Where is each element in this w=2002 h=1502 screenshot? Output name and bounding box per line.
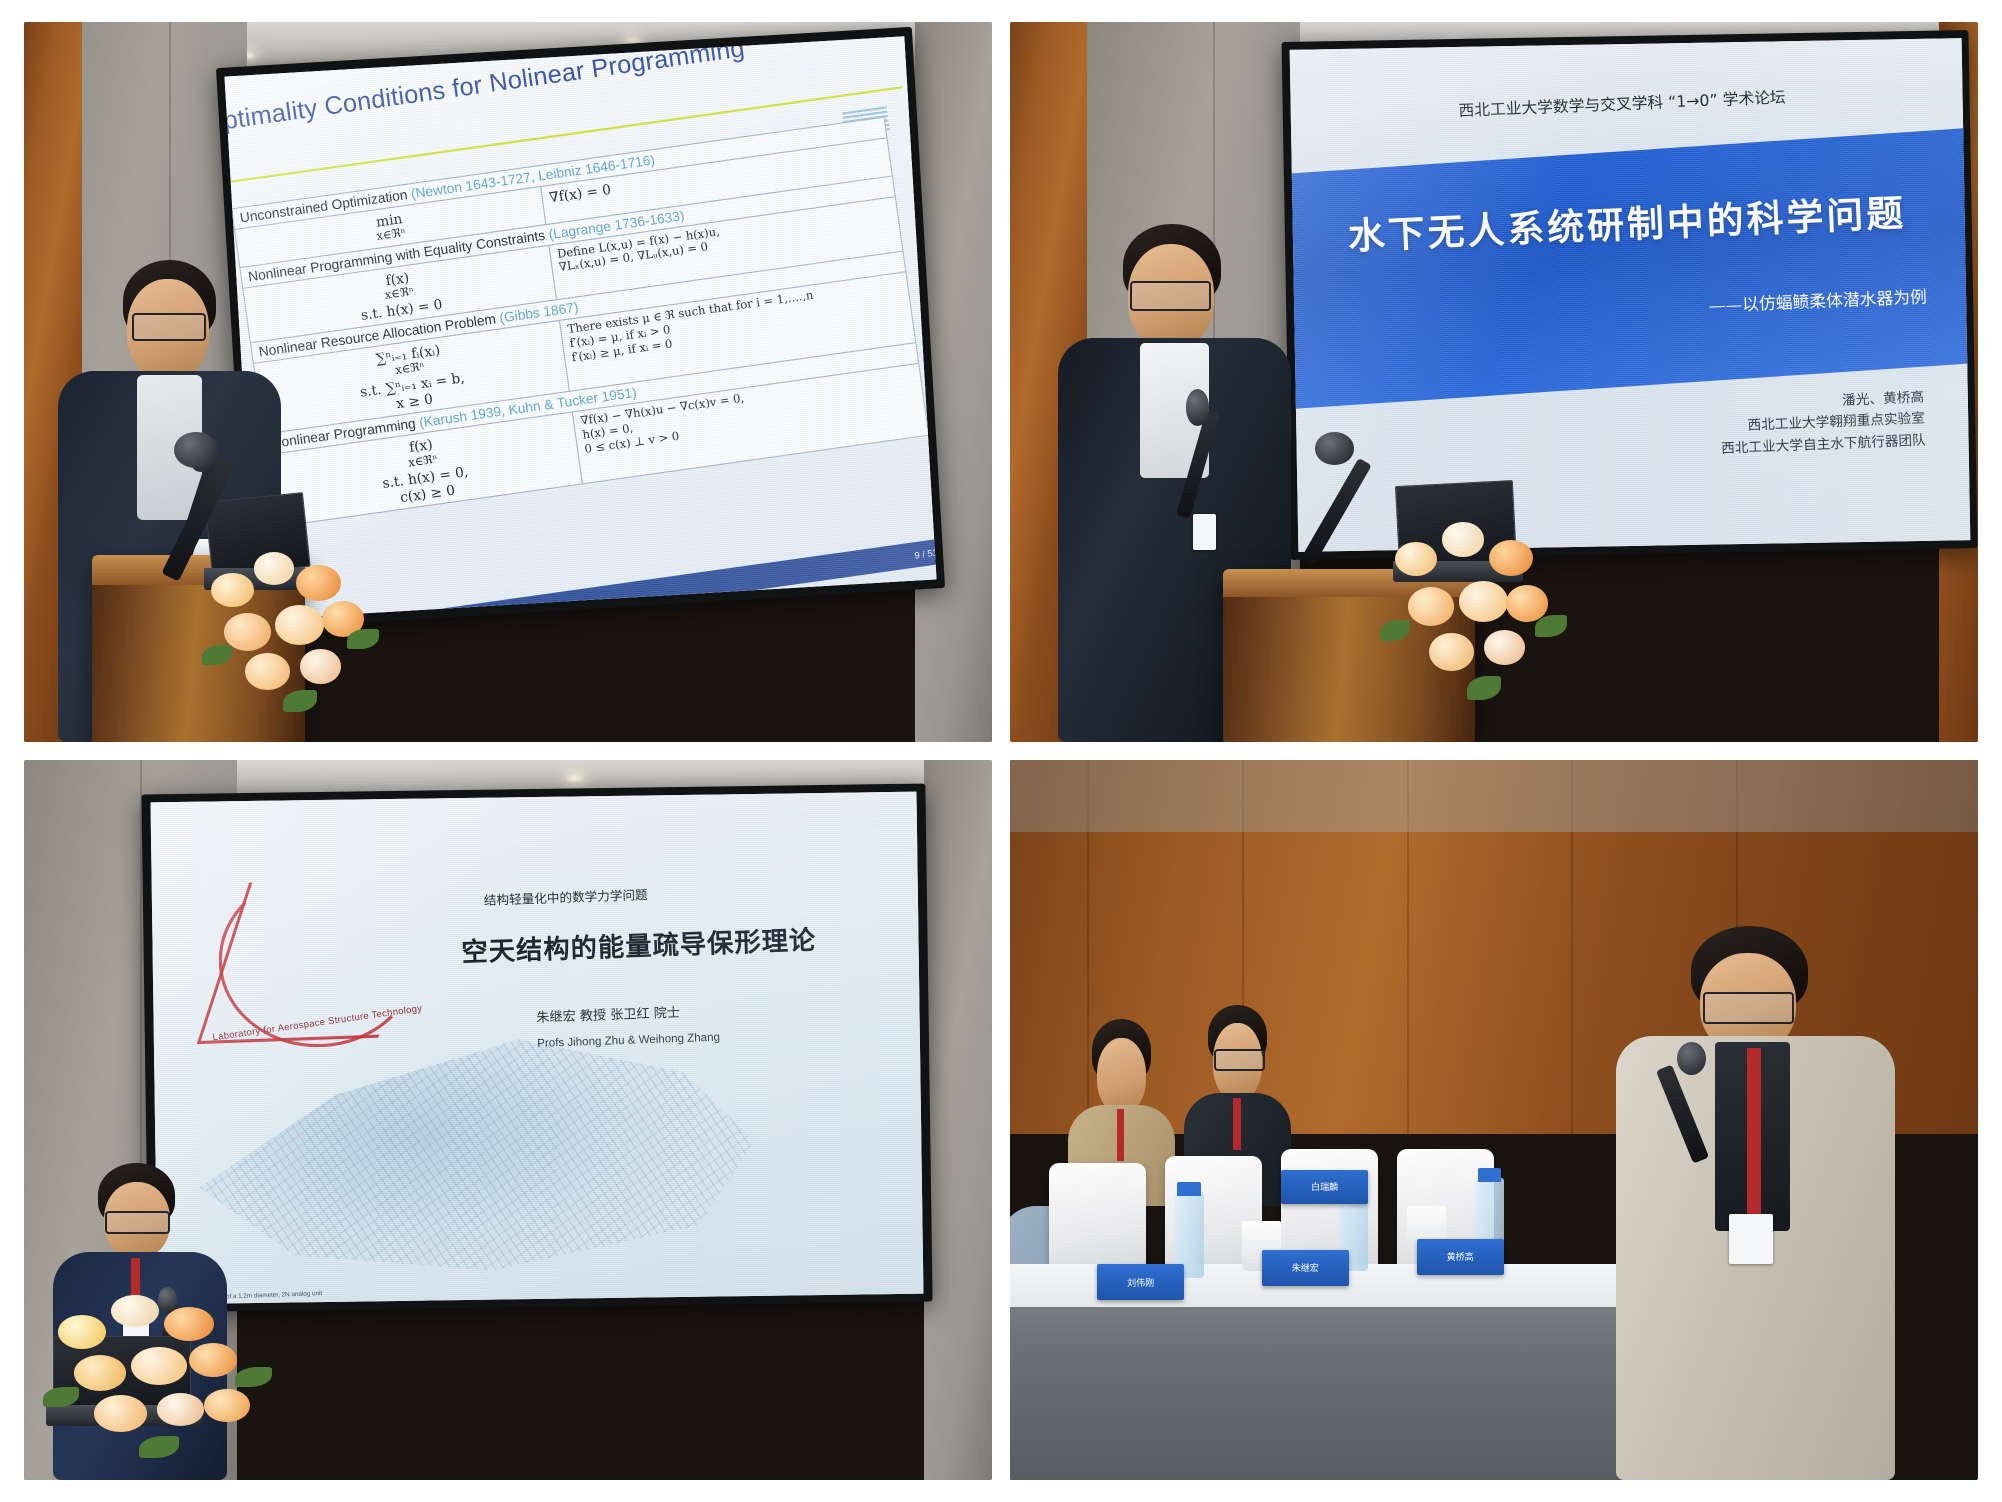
flower-bouquet <box>198 540 411 742</box>
flower <box>189 1343 237 1377</box>
projection-screen: 西北工业大学数学与交叉学科 “1→0” 学术论坛 水下无人系统研制中的科学问题 … <box>1289 39 1970 552</box>
projection-screen-frame: Laboratory for Aerospace Structure Techn… <box>141 783 932 1312</box>
slide-kicker: 结构轻量化中的数学力学问题 <box>483 886 647 910</box>
slide-title: 空天结构的能量疏导保形理论 <box>460 920 816 970</box>
projection-screen: Laboratory for Aerospace Structure Techn… <box>150 792 924 1304</box>
nameplate-label: 刘伟刚 <box>1127 1276 1154 1289</box>
authors-en: Profs Jihong Zhu & Weihong Zhang <box>537 1031 720 1050</box>
slide-optimality: Optimality Conditions for Nolinear Progr… <box>224 36 937 619</box>
flower <box>1459 581 1508 622</box>
flower <box>1429 633 1474 672</box>
lanyard <box>1233 1098 1240 1150</box>
head <box>1097 1038 1146 1113</box>
leaf <box>1380 620 1410 642</box>
badge <box>1729 1214 1773 1264</box>
flower <box>296 565 341 601</box>
authors-cn: 朱继宏 教授 张卫红 院士 <box>536 1001 680 1026</box>
leaf <box>1467 676 1501 700</box>
standing-speaker <box>1610 926 1900 1480</box>
flower <box>204 1389 249 1421</box>
microphone-head <box>1186 389 1209 425</box>
glasses <box>132 313 206 341</box>
glasses <box>1703 992 1794 1024</box>
panel-top-right: 西北工业大学数学与交叉学科 “1→0” 学术论坛 水下无人系统研制中的科学问题 … <box>1010 22 1978 742</box>
slide-aerospace: Laboratory for Aerospace Structure Techn… <box>150 792 924 1304</box>
flower <box>1395 542 1438 577</box>
lanyard <box>1747 1048 1762 1225</box>
flower-bouquet <box>43 1278 295 1480</box>
flower <box>111 1295 159 1327</box>
glasses <box>105 1211 170 1234</box>
wall-right <box>924 760 992 1480</box>
nameplate: 白瑞麟 <box>1281 1170 1368 1203</box>
flower <box>300 649 340 683</box>
wall-upper-band <box>1010 760 1978 832</box>
slide-number: 9 / 53 <box>913 547 936 561</box>
leaf <box>1535 615 1567 637</box>
leaf <box>202 645 232 665</box>
flower <box>1489 540 1534 577</box>
slide-underwater: 西北工业大学数学与交叉学科 “1→0” 学术论坛 水下无人系统研制中的科学问题 … <box>1289 39 1970 552</box>
lab-logo: Laboratory for Aerospace Structure Techn… <box>200 851 449 1070</box>
bottle-cap <box>1478 1168 1501 1182</box>
badge <box>1193 514 1216 550</box>
flower <box>74 1355 127 1391</box>
flower <box>157 1393 205 1425</box>
flower <box>1484 630 1524 665</box>
nameplate: 刘伟刚 <box>1097 1264 1184 1300</box>
flower <box>1442 522 1485 557</box>
photo-collage: Optimality Conditions for Nolinear Progr… <box>0 0 2002 1502</box>
flower <box>245 653 290 689</box>
leaf <box>235 1367 273 1387</box>
flower <box>164 1307 214 1341</box>
podium-microphone-head <box>174 432 218 468</box>
flower <box>211 573 254 607</box>
flower <box>1408 587 1455 626</box>
nameplate-label: 朱继宏 <box>1292 1261 1319 1274</box>
projection-screen-frame: Optimality Conditions for Nolinear Progr… <box>216 27 945 629</box>
bottle-cap <box>1177 1182 1200 1196</box>
lanyard <box>1117 1109 1124 1161</box>
leaf <box>139 1436 179 1458</box>
leaf <box>43 1387 78 1407</box>
microphone-head <box>1677 1042 1706 1075</box>
podium-microphone-head <box>1315 432 1354 464</box>
author-block: 潘光、黄桥高 西北工业大学翱翔重点实验室 西北工业大学自主水下航行器团队 <box>1718 389 1925 461</box>
optimality-table: Unconstrained Optimization (Newton 1643-… <box>231 116 929 527</box>
nameplate-label: 白瑞麟 <box>1311 1180 1338 1193</box>
flower <box>131 1347 186 1385</box>
forum-name: 西北工业大学数学与交叉学科 “1→0” 学术论坛 <box>1325 80 1918 127</box>
panel-top-left: Optimality Conditions for Nolinear Progr… <box>24 22 992 742</box>
flower <box>254 552 294 584</box>
glasses <box>1214 1049 1265 1071</box>
nameplate: 朱继宏 <box>1262 1250 1349 1286</box>
glasses <box>1130 281 1211 311</box>
panel-bottom-right: 刘伟刚 朱继宏 黄桥高 白瑞麟 朱华君 <box>1010 760 1978 1480</box>
flower-bouquet <box>1378 512 1591 728</box>
nameplate: 黄桥高 <box>1417 1239 1504 1275</box>
projection-screen: Optimality Conditions for Nolinear Progr… <box>224 36 937 619</box>
projection-screen-frame: 西北工业大学数学与交叉学科 “1→0” 学术论坛 水下无人系统研制中的科学问题 … <box>1281 30 1977 560</box>
flower <box>1506 585 1549 622</box>
flower <box>275 605 324 645</box>
flower <box>58 1315 106 1349</box>
nameplate-label: 黄桥高 <box>1447 1250 1474 1263</box>
panel-bottom-left: Laboratory for Aerospace Structure Techn… <box>24 760 992 1480</box>
title-band <box>1289 128 1970 410</box>
leaf <box>283 690 317 712</box>
leaf <box>347 629 379 649</box>
flower <box>94 1395 147 1431</box>
